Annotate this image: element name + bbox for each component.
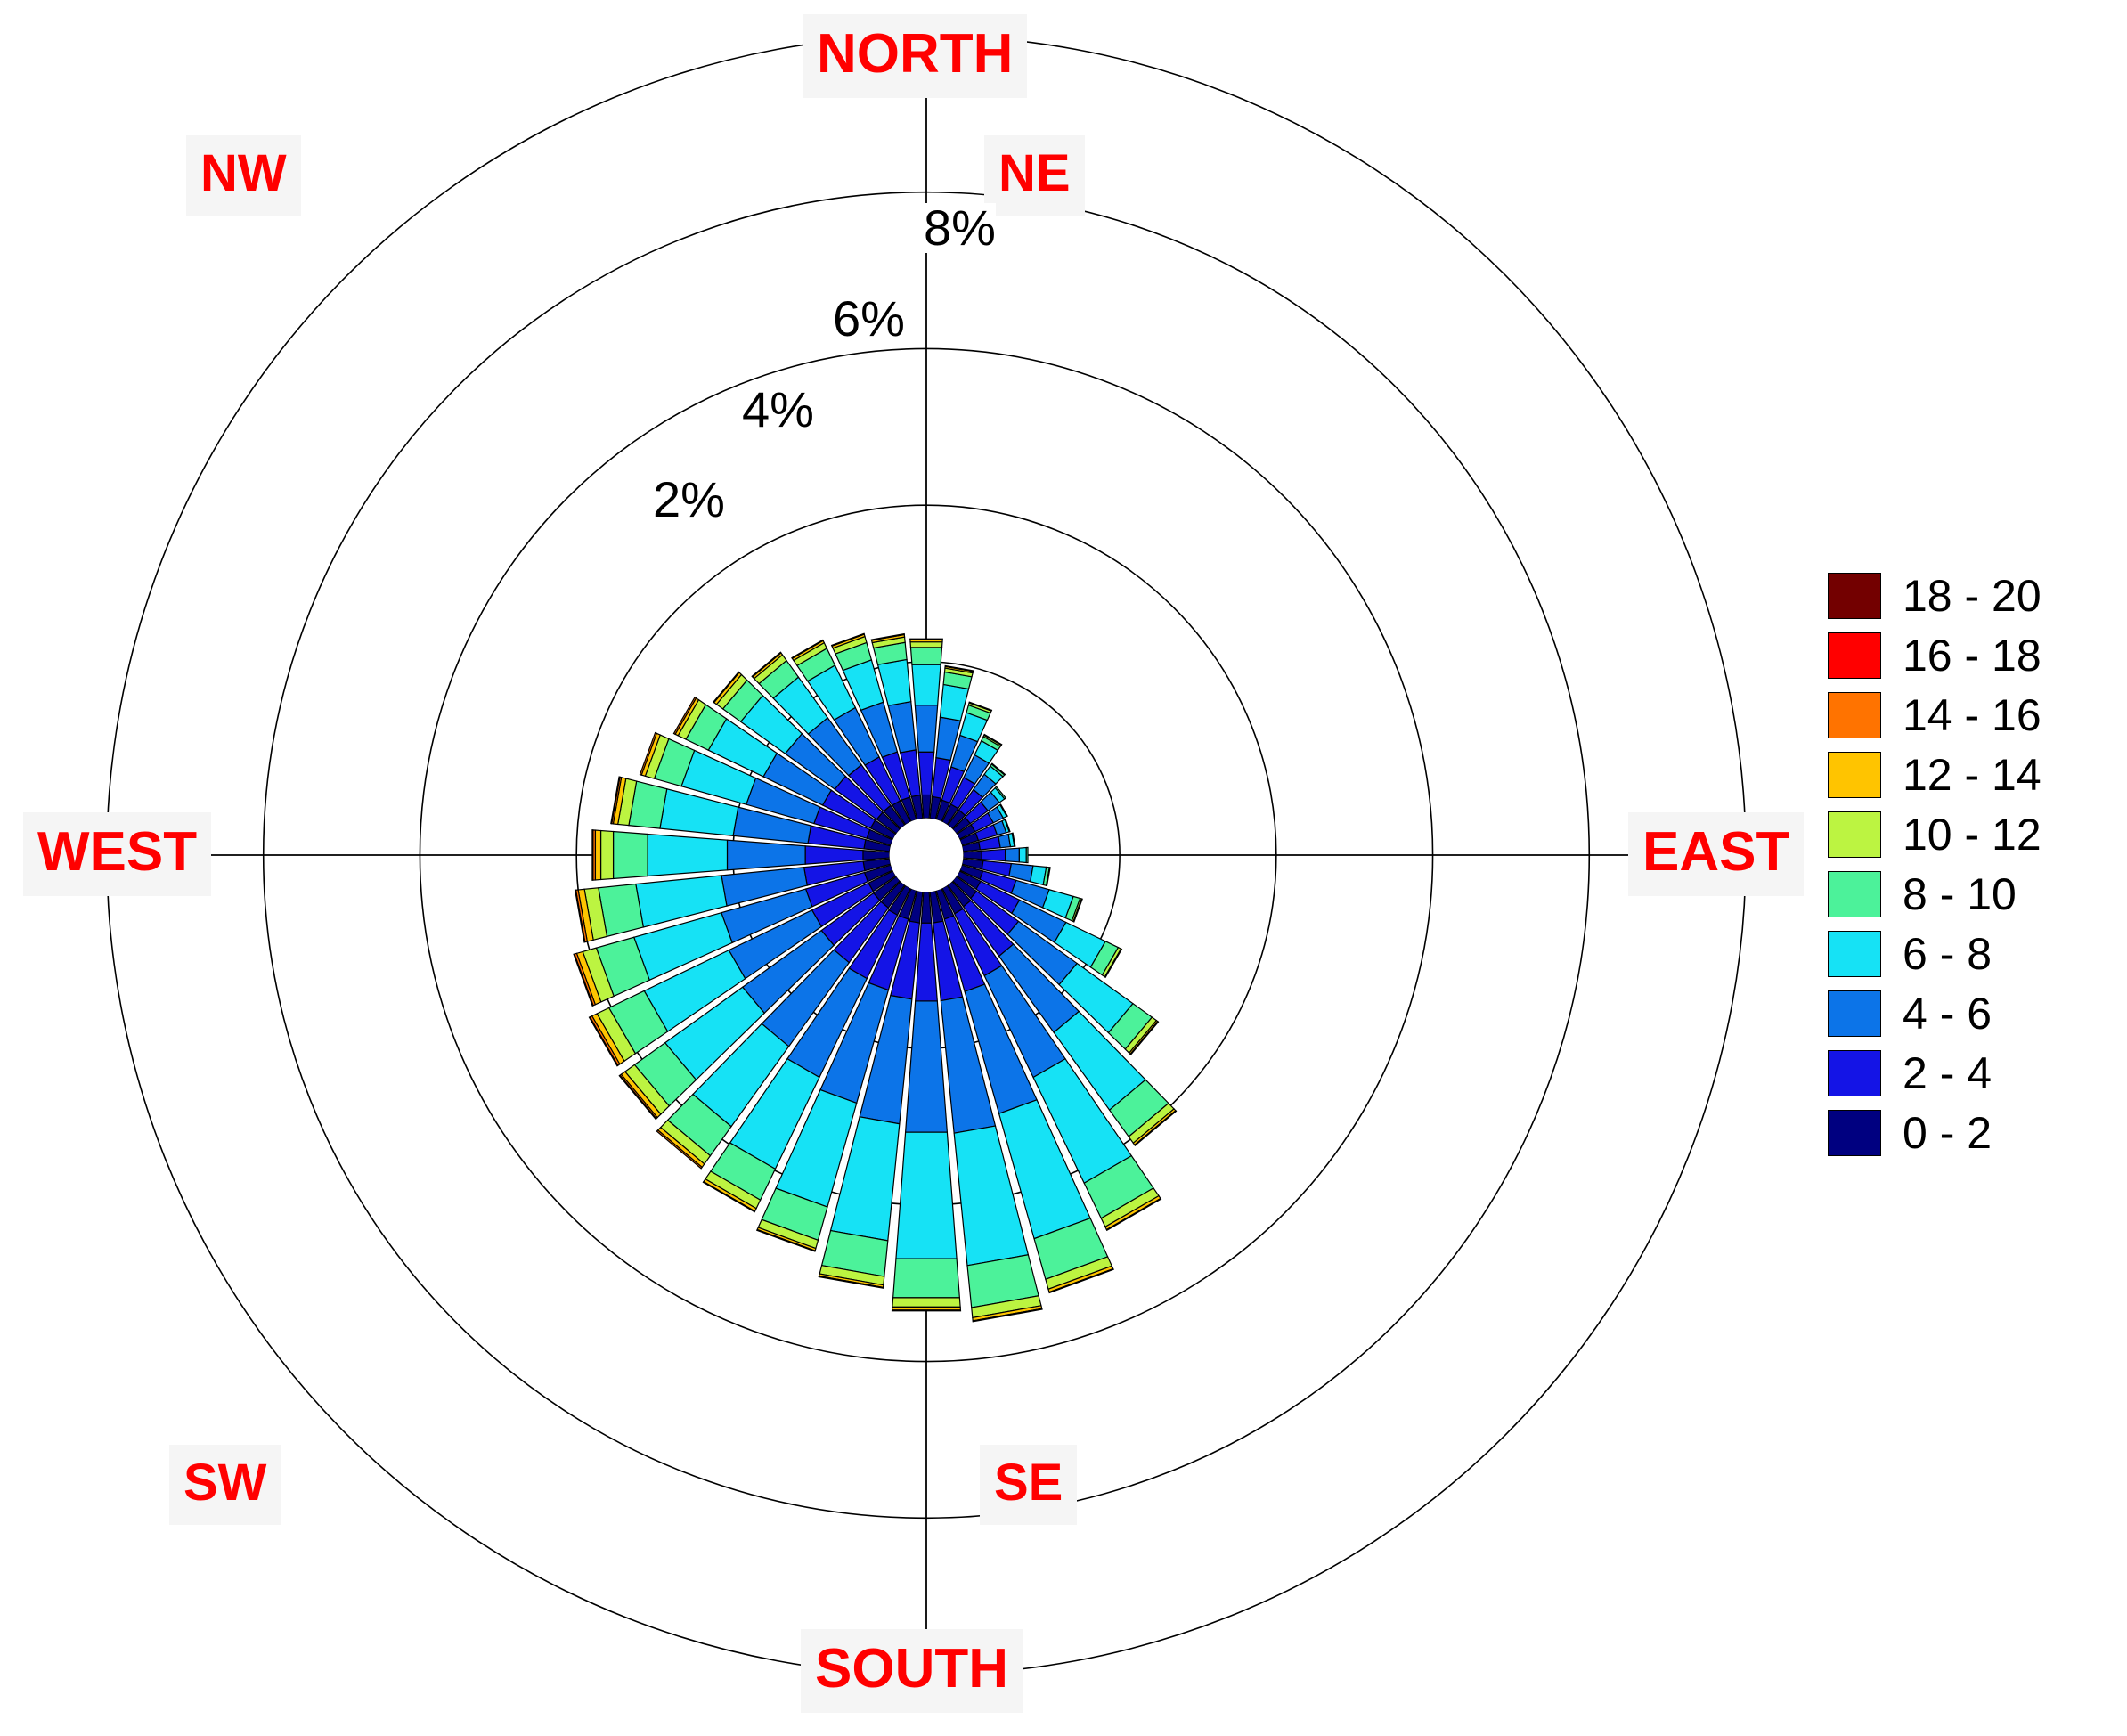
petal-segment [910, 639, 943, 640]
petal-segment [892, 1298, 960, 1308]
legend-label: 18 - 20 [1903, 570, 2041, 622]
legend-label: 10 - 12 [1903, 809, 2041, 860]
legend-swatch [1828, 752, 1881, 798]
petal-segment [922, 795, 931, 818]
legend-row: 2 - 4 [1828, 1045, 2127, 1101]
legend-row: 0 - 2 [1828, 1104, 2127, 1161]
petal-segment [982, 849, 1005, 860]
legend-row: 8 - 10 [1828, 866, 2127, 922]
compass-label-north: NORTH [803, 14, 1027, 98]
legend: 18 - 2016 - 1814 - 1612 - 1410 - 128 - 1… [1828, 567, 2127, 1164]
legend-label: 2 - 4 [1903, 1047, 1992, 1099]
legend-label: 0 - 2 [1903, 1107, 1992, 1159]
legend-label: 16 - 18 [1903, 630, 2041, 681]
legend-row: 14 - 16 [1828, 687, 2127, 743]
petal-segment [614, 832, 648, 879]
legend-label: 6 - 8 [1903, 928, 1992, 980]
radial-tick-8pct: 8% [924, 203, 996, 253]
legend-swatch [1828, 692, 1881, 738]
legend-row: 12 - 14 [1828, 746, 2127, 803]
legend-swatch [1828, 990, 1881, 1037]
petal-segment [963, 851, 982, 859]
legend-label: 8 - 10 [1903, 868, 2017, 920]
compass-label-east: EAST [1628, 812, 1804, 896]
windrose-page: NORTH SOUTH WEST EAST NE NW SE SW 8% 6% … [0, 0, 2127, 1736]
legend-swatch [1828, 1050, 1881, 1096]
legend-label: 14 - 16 [1903, 689, 2041, 741]
petal-segment [940, 684, 968, 721]
petal-segment [1019, 848, 1026, 863]
compass-label-sw: SW [169, 1445, 281, 1525]
petal-segment [1026, 847, 1028, 862]
petal-segment [906, 1001, 948, 1132]
compass-label-south: SOUTH [801, 1629, 1023, 1713]
petal-segment [912, 664, 941, 705]
petal-segment [915, 705, 937, 753]
legend-swatch [1828, 811, 1881, 858]
petal-segment [727, 840, 805, 870]
radial-tick-4pct: 4% [742, 385, 814, 435]
legend-swatch [1828, 931, 1881, 977]
compass-label-west: WEST [23, 812, 211, 896]
petal-segment [805, 846, 863, 864]
petal-segment [648, 834, 727, 876]
radial-tick-6pct: 6% [833, 294, 905, 344]
legend-swatch [1828, 871, 1881, 917]
petal-segment [863, 851, 890, 860]
petal-segment [595, 830, 600, 880]
legend-swatch [1828, 573, 1881, 619]
petal-segment [592, 830, 593, 880]
petal-segment [910, 648, 941, 664]
legend-swatch [1828, 1110, 1881, 1156]
legend-row: 4 - 6 [1828, 985, 2127, 1041]
compass-label-nw: NW [186, 135, 301, 216]
legend-row: 18 - 20 [1828, 567, 2127, 623]
petal-segment [921, 892, 931, 923]
compass-label-se: SE [980, 1445, 1077, 1525]
legend-swatch [1828, 632, 1881, 679]
compass-label-ne: NE [984, 135, 1085, 216]
petal-segment [918, 752, 933, 795]
legend-row: 10 - 12 [1828, 806, 2127, 862]
petal-segment [910, 642, 942, 648]
legend-row: 6 - 8 [1828, 925, 2127, 982]
petal-segment [1006, 848, 1020, 862]
petal-segment [601, 831, 614, 880]
petal-segment [892, 1310, 961, 1311]
petal-segment [896, 1132, 957, 1259]
petal-layer [574, 633, 1176, 1322]
center-hole [890, 819, 964, 892]
legend-label: 4 - 6 [1903, 988, 1992, 1039]
legend-label: 12 - 14 [1903, 749, 2041, 801]
petal-segment [893, 1259, 960, 1298]
radial-tick-2pct: 2% [653, 475, 725, 525]
legend-row: 16 - 18 [1828, 627, 2127, 683]
